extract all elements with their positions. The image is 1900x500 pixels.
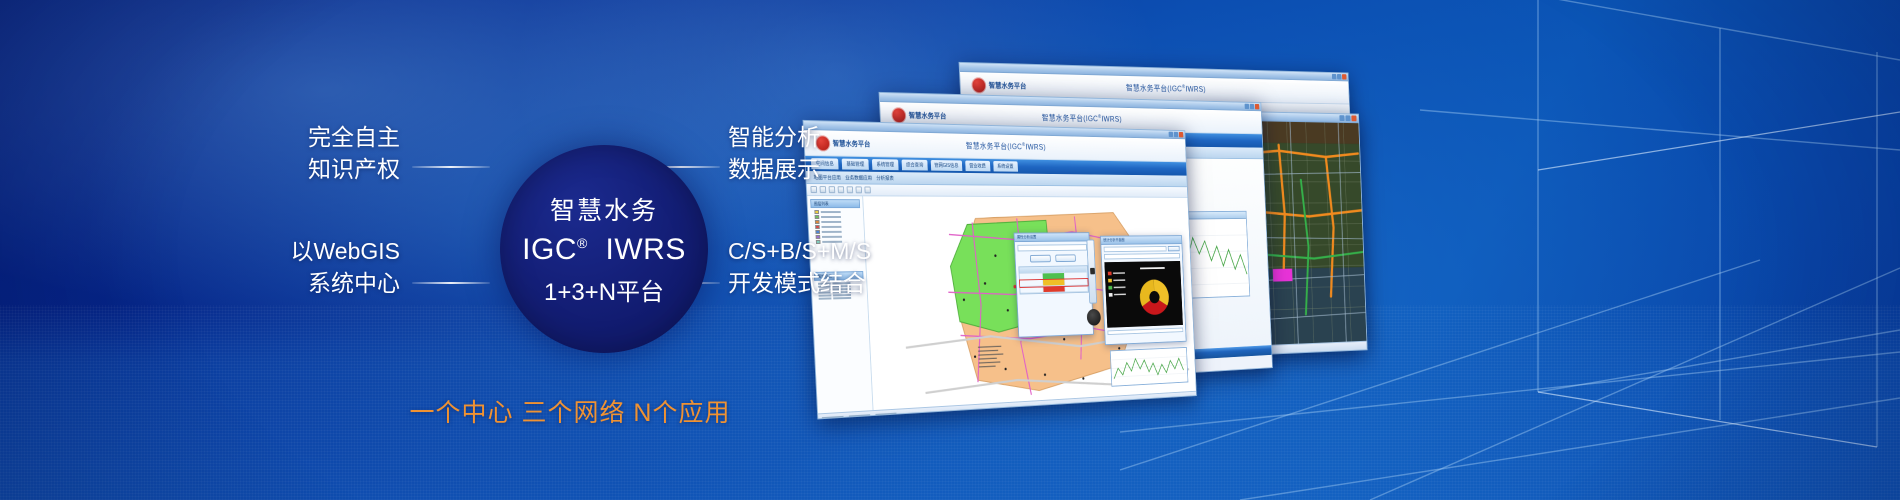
pie-chart-container [1104,261,1183,328]
connector-bottom-left [412,282,490,284]
stat-date-input[interactable] [1104,253,1180,260]
window-controls-map[interactable] [1339,115,1356,121]
feature-line-2: 数据展示 [728,154,928,186]
feature-label-bottom-left: 以WebGIS 系统中心 [236,236,400,299]
mini-trend-chart[interactable] [1110,347,1188,387]
stat-filter-input[interactable] [1104,246,1167,252]
analysis-dialog-title: 属性分析设置 [1014,233,1088,242]
brand-name-back: 智慧水务平台 [989,80,1027,91]
feature-line-2: 系统中心 [236,268,400,300]
hero-diagram: 完全自主 知识产权 智能分析 数据展示 以WebGIS 系统中心 C/S+B/S… [0,0,960,500]
window-controls-back[interactable] [1332,74,1347,80]
analysis-dialog-buttons[interactable] [1015,254,1089,263]
grid-row[interactable] [1020,285,1088,293]
analysis-dialog[interactable]: 属性分析设置 [1014,232,1094,337]
hero-tagline: 一个中心 三个网络 N个应用 [360,393,780,429]
banner-stage: 智慧水务平台 智慧水务平台(IGC®IWRS) 空间信息 基础管理 系统管理 综… [0,0,1900,500]
zoom-slider-handle[interactable] [1090,268,1095,274]
feature-line-1: C/S+B/S+M/S [728,236,948,268]
analysis-result-grid[interactable] [1018,265,1088,294]
stat-query-button[interactable] [1168,246,1180,251]
feature-label-top-right: 智能分析 数据展示 [728,122,928,185]
window-controls-middle[interactable] [1245,104,1260,110]
feature-line-2: 开发模式结合 [728,268,948,300]
window-controls-front[interactable] [1169,132,1184,138]
feature-line-1: 智能分析 [728,122,928,154]
feature-label-top-left: 完全自主 知识产权 [240,122,400,185]
circle-platform: 1+3+N平台 [544,272,664,307]
statistics-panel[interactable]: 统计分析平面图 [1100,235,1186,345]
circle-brand-iwrs: IWRS [606,233,686,266]
dialog-confirm-button[interactable] [1030,255,1051,263]
stat-footer-field [1107,328,1183,335]
dialog-cancel-button[interactable] [1055,254,1076,262]
feature-line-1: 以WebGIS [236,236,400,268]
analysis-dialog-input[interactable] [1017,244,1087,251]
circle-brand-igc: IGC [522,233,577,266]
circle-title-cn: 智慧水务 [550,191,658,227]
pie-legend [1108,271,1126,296]
statistics-panel-title: 统计分析平面图 [1101,236,1182,245]
connector-top-left [412,166,490,168]
app-title-middle: 智慧水务平台(IGC®IWRS) [1042,113,1122,125]
nav-tab[interactable]: 系统设置 [993,161,1018,172]
feature-line-1: 完全自主 [240,122,400,154]
center-circle-badge: 智慧水务 IGC® IWRS 1+3+N平台 [500,145,708,353]
registered-mark-icon: ® [577,235,588,251]
nav-tab[interactable]: 营业收费 [965,161,990,172]
pie-chart-slices [1139,279,1169,315]
app-logo-icon [971,77,986,93]
feature-label-bottom-right: C/S+B/S+M/S 开发模式结合 [728,236,948,299]
feature-line-2: 知识产权 [240,154,400,186]
app-title-back: 智慧水务平台(IGC®IWRS) [1126,83,1206,95]
app-title-front: 智慧水务平台(IGC®IWRS) [966,141,1046,153]
circle-brand: IGC® IWRS [522,234,686,266]
